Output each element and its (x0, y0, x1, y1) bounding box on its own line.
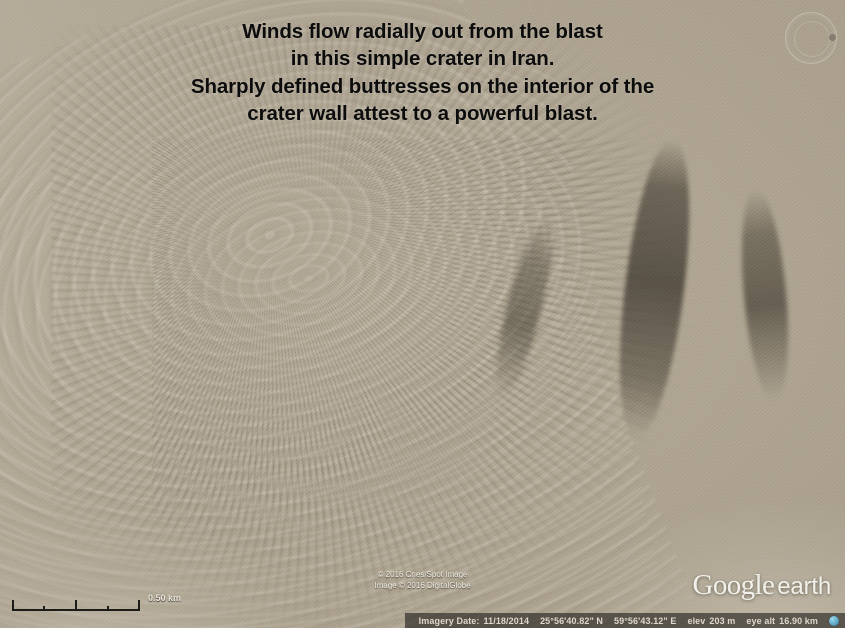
eye-altitude-value: 16.90 km (779, 616, 818, 626)
globe-icon[interactable] (829, 616, 839, 626)
scale-tick-minor-1 (43, 606, 45, 611)
latitude-readout: 25°56'40.82" N (540, 616, 603, 626)
scale-bar-label: 0.50 km (148, 593, 181, 603)
google-earth-window: Winds flow radially out from the blast i… (0, 0, 845, 628)
elevation-value: 203 m (709, 616, 735, 626)
elevation-label: elev (687, 616, 705, 626)
scale-tick-start (12, 600, 14, 611)
compass-inner-ring-icon (794, 21, 830, 57)
eye-altitude-label: eye alt (746, 616, 775, 626)
logo-google-text: Google (693, 569, 775, 601)
longitude-readout: 59°56'43.12" E (614, 616, 676, 626)
atmospheric-haze (0, 0, 845, 628)
earth-3d-viewport[interactable] (0, 0, 845, 628)
status-bar: Imagery Date: 11/18/2014 25°56'40.82" N … (405, 613, 845, 628)
compass-north-marker-icon[interactable] (829, 34, 836, 41)
scale-tick-minor-2 (107, 606, 109, 611)
imagery-date-value: 11/18/2014 (484, 616, 530, 626)
scale-bar (12, 599, 140, 611)
scale-tick-end (138, 600, 140, 611)
logo-earth-text: earth (777, 573, 831, 600)
google-earth-logo: Googleearth (693, 571, 832, 600)
imagery-date-label: Imagery Date: (419, 616, 480, 626)
scale-tick-mid (75, 600, 77, 611)
navigation-compass-control[interactable] (785, 12, 837, 64)
